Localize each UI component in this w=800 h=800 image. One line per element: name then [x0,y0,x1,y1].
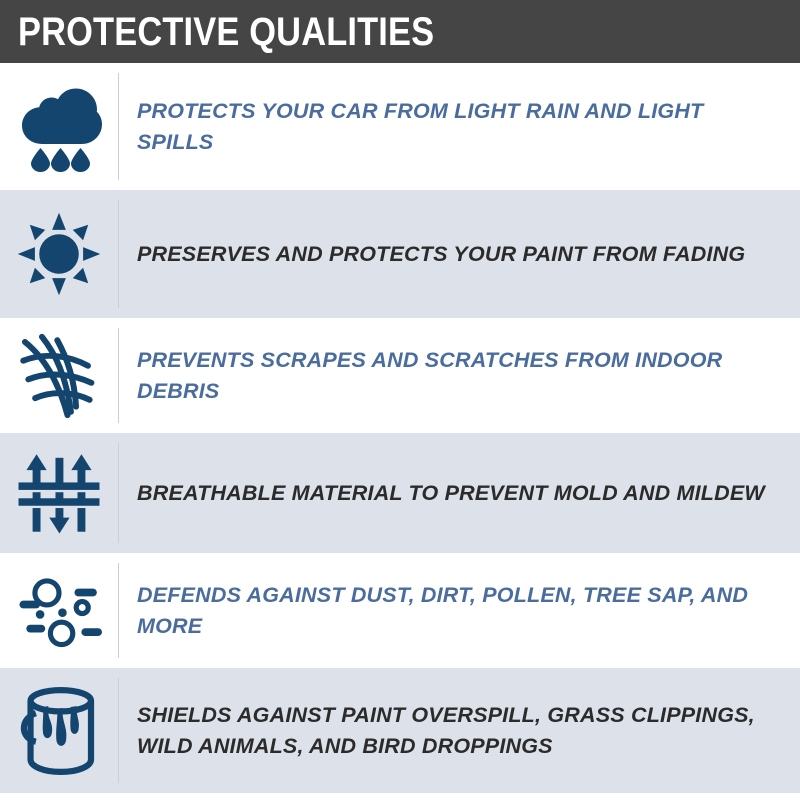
feature-row-scratches: PREVENTS SCRAPES AND SCRATCHES FROM INDO… [0,318,800,433]
protective-qualities-infographic: PROTECTIVE QUALITIES PROTECTS YOUR CAR F… [0,0,800,800]
breathable-airflow-icon [15,449,103,537]
text-cell: BREATHABLE MATERIAL TO PREVENT MOLD AND … [119,433,800,553]
feature-row-dust: DEFENDS AGAINST DUST, DIRT, POLLEN, TREE… [0,553,800,668]
feature-text: PRESERVES AND PROTECTS YOUR PAINT FROM F… [137,239,745,270]
feature-text: PREVENTS SCRAPES AND SCRATCHES FROM INDO… [137,345,776,406]
page-title: PROTECTIVE QUALITIES [18,12,434,52]
feature-text: PROTECTS YOUR CAR FROM LIGHT RAIN AND LI… [137,96,776,157]
scratch-mesh-icon [16,330,102,422]
text-cell: PREVENTS SCRAPES AND SCRATCHES FROM INDO… [119,318,800,433]
dust-particles-icon [14,568,104,654]
icon-cell [0,190,118,318]
icon-cell [0,433,118,553]
text-cell: PRESERVES AND PROTECTS YOUR PAINT FROM F… [119,190,800,318]
icon-cell [0,668,118,793]
feature-text: DEFENDS AGAINST DUST, DIRT, POLLEN, TREE… [137,580,776,641]
icon-cell [0,63,118,190]
text-cell: PROTECTS YOUR CAR FROM LIGHT RAIN AND LI… [119,63,800,190]
icon-cell [0,318,118,433]
feature-list: PROTECTS YOUR CAR FROM LIGHT RAIN AND LI… [0,63,800,793]
paint-can-icon [16,683,102,779]
text-cell: SHIELDS AGAINST PAINT OVERSPILL, GRASS C… [119,668,800,793]
feature-text: BREATHABLE MATERIAL TO PREVENT MOLD AND … [137,478,765,509]
bottom-strip [0,793,800,800]
text-cell: DEFENDS AGAINST DUST, DIRT, POLLEN, TREE… [119,553,800,668]
sun-icon [16,211,102,297]
icon-cell [0,553,118,668]
header-bar: PROTECTIVE QUALITIES [0,0,800,63]
feature-row-breathable: BREATHABLE MATERIAL TO PREVENT MOLD AND … [0,433,800,553]
rain-cloud-icon [16,82,102,172]
feature-row-rain: PROTECTS YOUR CAR FROM LIGHT RAIN AND LI… [0,63,800,190]
feature-row-paint: SHIELDS AGAINST PAINT OVERSPILL, GRASS C… [0,668,800,793]
feature-text: SHIELDS AGAINST PAINT OVERSPILL, GRASS C… [137,700,776,761]
feature-row-sun: PRESERVES AND PROTECTS YOUR PAINT FROM F… [0,190,800,318]
